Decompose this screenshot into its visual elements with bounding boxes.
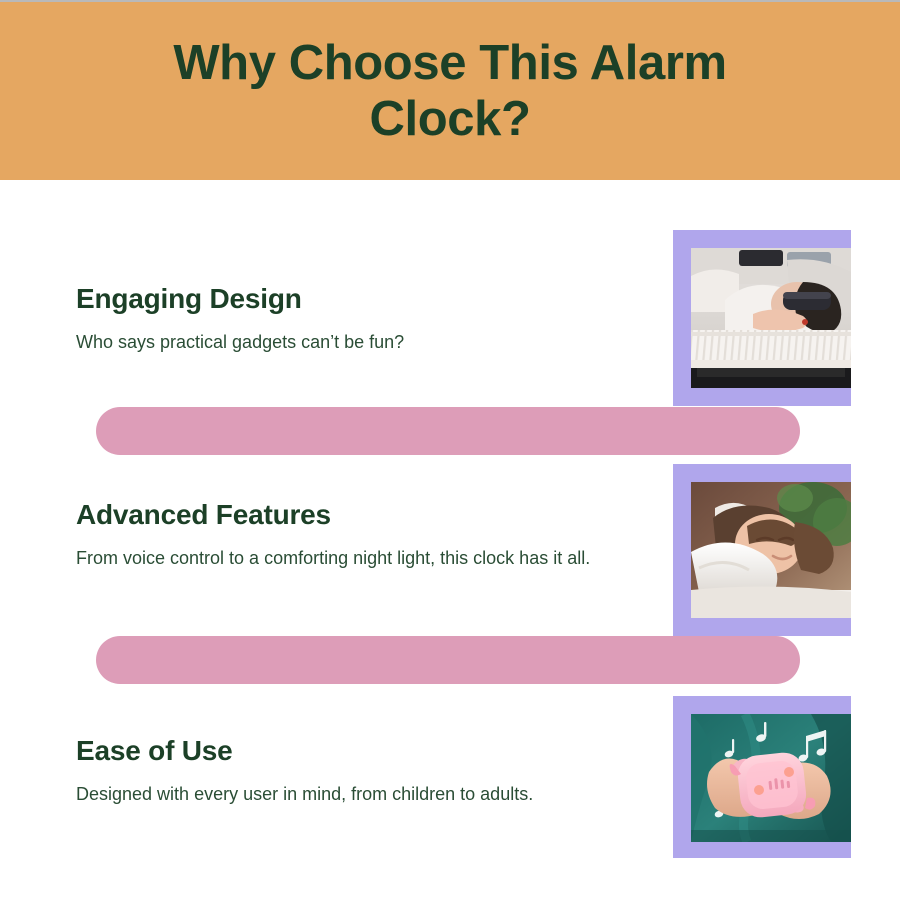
page-title: Why Choose This Alarm Clock? [100,35,800,148]
feature-body-engaging-design: Who says practical gadgets can’t be fun? [76,329,636,356]
feature-section-2: Advanced Features From voice control to … [76,500,646,572]
photo-frame-2 [673,464,851,636]
pink-pill-divider-2 [96,636,800,684]
infographic-poster: Why Choose This Alarm Clock? [0,0,900,923]
pink-pill-divider-1 [96,407,800,455]
header-band: Why Choose This Alarm Clock? [0,2,900,180]
photo-pink-alarm-clock [691,714,851,842]
feature-heading-ease-of-use: Ease of Use [76,736,646,767]
photo-frame-1 [673,230,851,406]
photo-smiling-sleeper-illustration [691,482,851,618]
feature-section-3: Ease of Use Designed with every user in … [76,736,646,808]
feature-body-ease-of-use: Designed with every user in mind, from c… [76,781,636,808]
photo-frame-3 [673,696,851,858]
photo-alarm-clock-illustration [691,714,851,842]
photo-sleeping-eye-mask [691,248,851,388]
feature-heading-advanced-features: Advanced Features [76,500,646,531]
feature-section-1: Engaging Design Who says practical gadge… [76,284,646,356]
photo-sleeping-smiling [691,482,851,618]
feature-body-advanced-features: From voice control to a comforting night… [76,545,636,572]
photo-eye-mask-illustration [691,248,851,388]
feature-heading-engaging-design: Engaging Design [76,284,646,315]
